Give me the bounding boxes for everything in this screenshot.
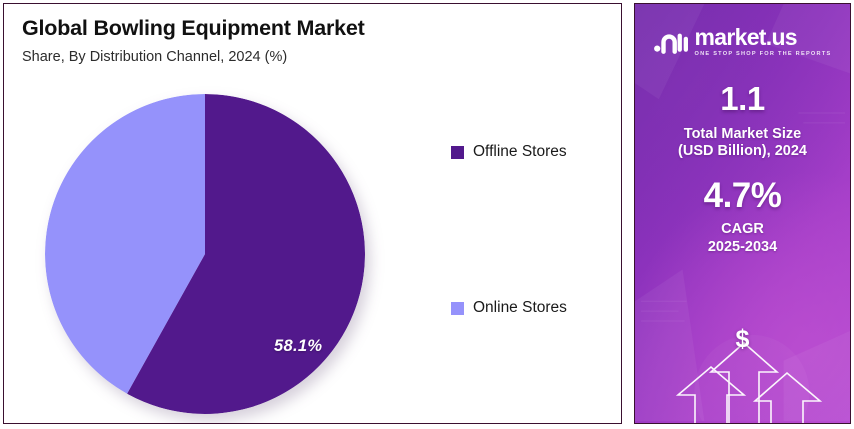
stat-caption-cagr: CAGR 2025-2034 (704, 221, 782, 256)
stat-caption-market-size-line1: Total Market Size (684, 126, 801, 142)
infographic-root: Global Bowling Equipment Market Share, B… (0, 0, 854, 429)
legend-label-offline-stores: Offline Stores (473, 143, 567, 161)
brand-logo-text: market.us ONE STOP SHOP FOR THE REPORTS (695, 26, 832, 58)
legend-item-offline-stores[interactable]: Offline Stores (451, 143, 567, 161)
legend-label-online-stores: Online Stores (473, 299, 567, 317)
stat-caption-cagr-line1: CAGR (721, 221, 764, 237)
brand-stats-panel: market.us ONE STOP SHOP FOR THE REPORTS … (634, 3, 851, 424)
stat-caption-market-size-line2: (USD Billion), 2024 (678, 143, 807, 159)
market-us-bars-logo-icon (654, 29, 688, 55)
stat-caption-cagr-line2: 2025-2034 (708, 239, 777, 255)
chart-heading-group: Global Bowling Equipment Market Share, B… (22, 16, 365, 65)
pie-slice-label-offline-stores: 58.1% (274, 337, 322, 356)
page-title: Global Bowling Equipment Market (22, 16, 365, 41)
legend-item-online-stores[interactable]: Online Stores (451, 299, 567, 317)
brand-logo-tagline: ONE STOP SHOP FOR THE REPORTS (695, 52, 832, 58)
dollar-sign-icon: $ (635, 325, 850, 354)
legend-swatch-online-stores (451, 302, 464, 315)
stat-value-cagr: 4.7% (704, 176, 782, 216)
pie-chart-disc (45, 94, 365, 414)
pie-chart-svg (45, 94, 365, 414)
stat-block-market-size: 1.1 Total Market Size (USD Billion), 202… (678, 80, 807, 161)
stat-value-market-size: 1.1 (678, 80, 807, 118)
legend-swatch-offline-stores (451, 146, 464, 159)
brand-logo: market.us ONE STOP SHOP FOR THE REPORTS (654, 26, 832, 58)
stat-block-cagr: 4.7% CAGR 2025-2034 (704, 176, 782, 256)
stat-caption-market-size: Total Market Size (USD Billion), 2024 (678, 126, 807, 161)
brand-logo-word: market.us (695, 26, 797, 49)
chart-subtitle: Share, By Distribution Channel, 2024 (%) (22, 49, 365, 65)
growth-arrows-group: $ (635, 323, 850, 423)
chart-panel: Global Bowling Equipment Market Share, B… (3, 3, 622, 424)
pie-chart: 58.1% (45, 94, 365, 414)
brand-content: market.us ONE STOP SHOP FOR THE REPORTS … (635, 4, 850, 423)
